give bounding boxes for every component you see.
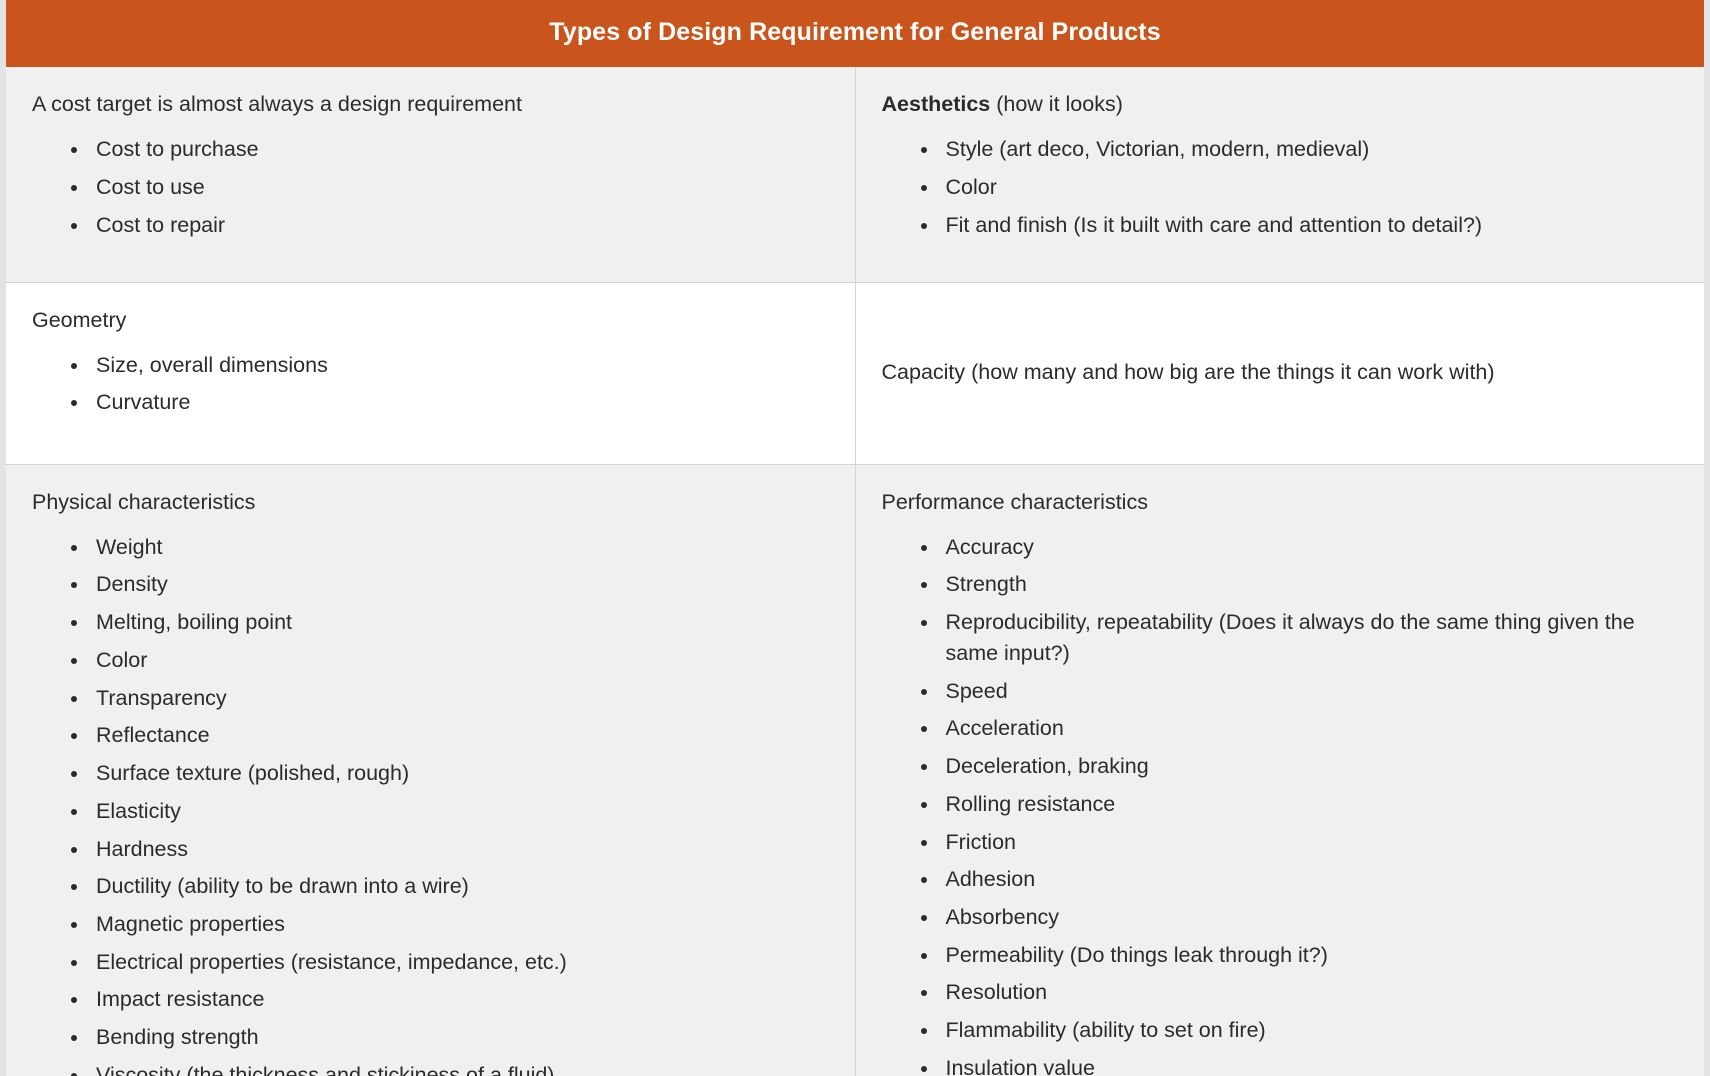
table-header-row: Types of Design Requirement for General … (6, 0, 1704, 67)
list-item: Absorbency (940, 902, 1679, 933)
list-item: Insulation value (940, 1053, 1679, 1076)
design-requirements-table: Types of Design Requirement for General … (6, 0, 1704, 1076)
list-item: Impact resistance (90, 984, 829, 1015)
geometry-list: Size, overall dimensions Curvature (32, 350, 829, 418)
cell-title-text: Performance characteristics (882, 490, 1148, 514)
list-item: Hardness (90, 834, 829, 865)
list-item: Rolling resistance (940, 789, 1679, 820)
list-item: Bending strength (90, 1022, 829, 1053)
list-item: Reproducibility, repeatability (Does it … (940, 607, 1679, 668)
list-item: Cost to repair (90, 210, 829, 241)
table-body: A cost target is almost always a design … (6, 67, 1704, 1076)
table-row: Physical characteristics Weight Density … (6, 464, 1704, 1076)
list-item: Strength (940, 569, 1679, 600)
list-item: Color (90, 645, 829, 676)
aesthetics-list: Style (art deco, Victorian, modern, medi… (882, 134, 1679, 240)
list-item: Fit and finish (Is it built with care an… (940, 210, 1679, 241)
list-item: Transparency (90, 683, 829, 714)
list-item: Size, overall dimensions (90, 350, 829, 381)
list-item: Deceleration, braking (940, 751, 1679, 782)
list-item: Color (940, 172, 1679, 203)
list-item: Accuracy (940, 532, 1679, 563)
cell-title-text: Physical characteristics (32, 490, 255, 514)
list-item: Cost to use (90, 172, 829, 203)
list-item: Melting, boiling point (90, 607, 829, 638)
list-item: Electrical properties (resistance, imped… (90, 947, 829, 978)
cell-title-text: Geometry (32, 308, 126, 332)
list-item: Reflectance (90, 720, 829, 751)
cell-aesthetics: Aesthetics (how it looks) Style (art dec… (855, 67, 1704, 282)
list-item: Friction (940, 827, 1679, 858)
cell-capacity: Capacity (how many and how big are the t… (855, 282, 1704, 464)
list-item: Acceleration (940, 713, 1679, 744)
cell-title-text: A cost target is almost always a design … (32, 92, 522, 116)
list-item: Elasticity (90, 796, 829, 827)
design-requirements-table-container: Types of Design Requirement for General … (0, 0, 1710, 1076)
cost-target-list: Cost to purchase Cost to use Cost to rep… (32, 134, 829, 240)
cell-title-bold: Aesthetics (882, 92, 991, 116)
list-item: Adhesion (940, 864, 1679, 895)
table-row: Geometry Size, overall dimensions Curvat… (6, 282, 1704, 464)
cell-title-text: (how it looks) (990, 92, 1123, 116)
list-item: Permeability (Do things leak through it?… (940, 940, 1679, 971)
cell-title: Aesthetics (how it looks) (882, 89, 1679, 120)
cell-title: A cost target is almost always a design … (32, 89, 829, 120)
physical-characteristics-list: Weight Density Melting, boiling point Co… (32, 532, 829, 1076)
cell-physical-characteristics: Physical characteristics Weight Density … (6, 464, 855, 1076)
cell-performance-characteristics: Performance characteristics Accuracy Str… (855, 464, 1704, 1076)
table-row: A cost target is almost always a design … (6, 67, 1704, 282)
cell-title: Capacity (how many and how big are the t… (882, 357, 1679, 389)
list-item: Style (art deco, Victorian, modern, medi… (940, 134, 1679, 165)
list-item: Magnetic properties (90, 909, 829, 940)
cell-title: Geometry (32, 305, 829, 336)
list-item: Curvature (90, 387, 829, 418)
list-item: Cost to purchase (90, 134, 829, 165)
cell-title: Performance characteristics (882, 487, 1679, 518)
list-item: Ductility (ability to be drawn into a wi… (90, 871, 829, 902)
list-item: Resolution (940, 977, 1679, 1008)
list-item: Flammability (ability to set on fire) (940, 1015, 1679, 1046)
list-item: Surface texture (polished, rough) (90, 758, 829, 789)
page-title: Types of Design Requirement for General … (6, 0, 1704, 67)
cell-cost-target: A cost target is almost always a design … (6, 67, 855, 282)
performance-characteristics-list: Accuracy Strength Reproducibility, repea… (882, 532, 1679, 1076)
cell-title: Physical characteristics (32, 487, 829, 518)
list-item: Viscosity (the thickness and stickiness … (90, 1060, 829, 1076)
list-item: Speed (940, 676, 1679, 707)
list-item: Density (90, 569, 829, 600)
list-item: Weight (90, 532, 829, 563)
cell-geometry: Geometry Size, overall dimensions Curvat… (6, 282, 855, 464)
